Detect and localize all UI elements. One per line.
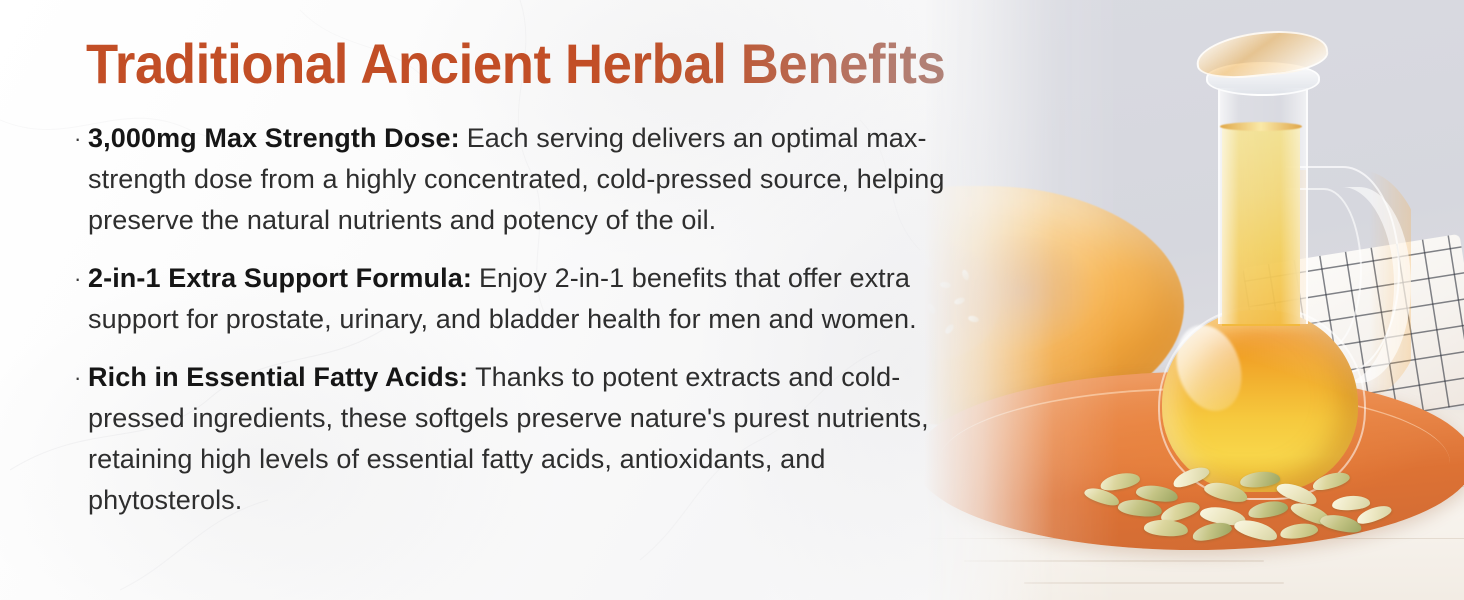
benefit-text: Rich in Essential Fatty Acids:Thanks to … — [88, 357, 964, 521]
glass-oil-carafe — [1134, 18, 1384, 498]
benefit-lead: 2-in-1 Extra Support Formula: — [88, 263, 472, 293]
benefit-text: 2-in-1 Extra Support Formula:Enjoy 2-in-… — [88, 258, 964, 340]
list-item: · Rich in Essential Fatty Acids:Thanks t… — [74, 357, 964, 521]
benefits-list: · 3,000mg Max Strength Dose:Each serving… — [74, 118, 964, 538]
list-item: · 3,000mg Max Strength Dose:Each serving… — [74, 118, 964, 241]
text-column: Traditional Ancient Herbal Benefits · 3,… — [0, 0, 1000, 600]
bullet-dot-icon: · — [74, 118, 88, 159]
oil-surface — [1220, 122, 1302, 131]
benefit-lead: Rich in Essential Fatty Acids: — [88, 362, 468, 392]
bullet-dot-icon: · — [74, 357, 88, 398]
product-benefits-banner: Traditional Ancient Herbal Benefits · 3,… — [0, 0, 1464, 600]
benefit-text: 3,000mg Max Strength Dose:Each serving d… — [88, 118, 964, 241]
bullet-dot-icon: · — [74, 258, 88, 299]
benefit-lead: 3,000mg Max Strength Dose: — [88, 123, 460, 153]
page-title: Traditional Ancient Herbal Benefits — [86, 33, 945, 95]
list-item: · 2-in-1 Extra Support Formula:Enjoy 2-i… — [74, 258, 964, 340]
